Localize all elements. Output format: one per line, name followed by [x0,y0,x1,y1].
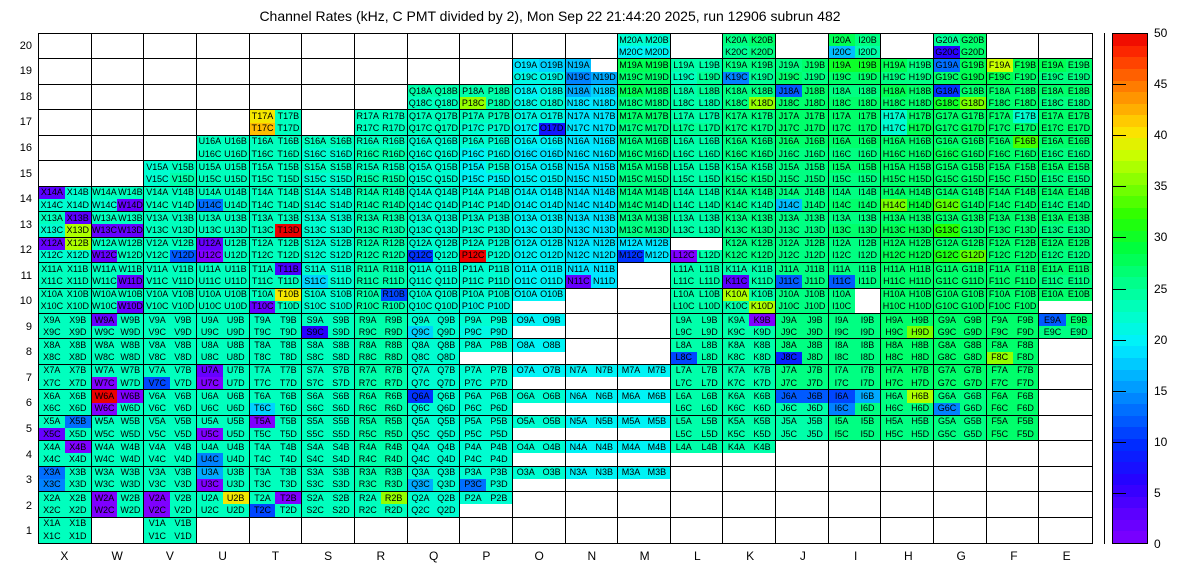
channel-subcell: T15A [250,161,276,173]
channel-subcell: W13D [117,224,143,236]
cell-quadrants: V15AV15BV15CV15D [144,161,196,185]
channel-subcell: N14D [591,199,617,211]
channel-subcell: K15B [749,161,775,173]
heatmap-cell [144,59,197,84]
channel-subcell [566,403,592,415]
cell-quadrants: G10AG10BG10CG10D [934,289,986,313]
channel-subcell: P10C [460,301,486,313]
channel-subcell: R4D [381,453,407,465]
heatmap-cell: G11AG11BG11CG11D [934,263,987,288]
channel-subcell: I16D [855,148,881,160]
channel-subcell: U10A [197,289,223,301]
channel-subcell: O11D [539,275,565,287]
channel-subcell: W2D [117,504,143,516]
channel-subcell: W12B [117,238,143,250]
channel-subcell: W9A [92,314,118,326]
channel-subcell: I19B [855,59,881,71]
channel-subcell: J9A [776,314,802,326]
channel-subcell: X1B [65,518,91,531]
channel-subcell: K9D [749,326,775,338]
channel-subcell: H9A [881,314,907,326]
heatmap-cell: P13AP13BP13CP13D [460,212,513,237]
cell-quadrants: V2AV2BV2CV2D [144,492,196,516]
channel-subcell: H10C [881,301,907,313]
channel-subcell: W10A [92,289,118,301]
channel-subcell: V10A [144,289,170,301]
channel-subcell: R8B [381,339,407,351]
channel-subcell: X2A [39,492,65,504]
heatmap-cell: O11AO11BO11CO11D [513,263,566,288]
channel-subcell: O16A [513,136,539,148]
channel-subcell: T7D [275,377,301,389]
cell-quadrants: K20AK20BK20CK20D [723,34,775,58]
channel-subcell: J7A [776,365,802,377]
colorbar-axis-line [1104,33,1105,544]
channel-subcell: O10A [513,289,539,301]
cell-quadrants: L5AL5BL5CL5D [671,416,723,440]
heatmap-cell: K16AK16BK16CK16D [723,136,776,161]
channel-subcell: K10B [749,289,775,301]
cell-quadrants: T6AT6BT6CT6D [250,390,302,414]
channel-subcell: X12A [39,238,65,250]
channel-subcell: L14D [697,199,723,211]
cell-quadrants: M7AM7B [618,365,670,389]
channel-subcell: F18A [987,85,1013,97]
channel-subcell: V4C [144,453,170,465]
heatmap-cell: L18AL18BL18CL18D [671,85,724,110]
cell-quadrants: P6AP6BP6CP6D [460,390,512,414]
channel-subcell: Q12A [408,238,434,250]
channel-subcell: T9B [275,314,301,326]
channel-subcell: K16B [749,136,775,148]
cell-quadrants: T15AT15BT15CT15D [250,161,302,185]
channel-subcell: X14B [65,187,91,199]
channel-subcell [513,453,539,465]
channel-subcell: Q3D [433,479,459,491]
cell-quadrants: Q10AQ10BQ10CQ10D [408,289,460,313]
heatmap-cell: O5AO5B [513,416,566,441]
channel-subcell [671,453,697,465]
channel-subcell [539,479,565,491]
channel-subcell: G7B [960,365,986,377]
channel-subcell: P9C [460,326,486,338]
cell-quadrants: P12AP12BP12CP12D [460,238,512,262]
channel-subcell: T10D [275,301,301,313]
heatmap-cell: H12AH12BH12CH12D [881,238,934,263]
channel-subcell: K14C [723,199,749,211]
cell-quadrants: S4AS4BS4CS4D [302,441,354,465]
heatmap-cell: R7AR7BR7CR7D [355,365,408,390]
channel-subcell: Q2D [433,504,459,516]
channel-subcell: T16A [250,136,276,148]
y-axis-tick: 2 [0,500,32,512]
cell-quadrants: X4AX4BX4CX4D [39,441,91,465]
channel-subcell: T2B [275,492,301,504]
channel-subcell: H8C [881,352,907,364]
channel-subcell: M7A [618,365,644,377]
cell-quadrants: T10AT10BT10CT10D [250,289,302,313]
channel-subcell: R16D [381,148,407,160]
colorbar-segment [1113,208,1147,220]
cell-quadrants: R9AR9BR9CR9D [355,314,407,338]
colorbar-segment [1113,323,1147,335]
heatmap-cell [302,518,355,543]
channel-subcell: L14A [671,187,697,199]
channel-subcell: S12B [328,238,354,250]
heatmap-cell: M18AM18BM18CM18D [618,85,671,110]
channel-subcell: I6D [855,403,881,415]
heatmap-cell: L8AL8BL8CL8D [671,339,724,364]
channel-subcell [644,377,670,389]
channel-subcell: U16D [223,148,249,160]
channel-subcell: V9D [170,326,196,338]
channel-subcell: Q8C [408,352,434,364]
heatmap-cell: U4AU4BU4CU4D [197,441,250,466]
heatmap-cell: M17AM17BM17CM17D [618,110,671,135]
y-axis-tick: 6 [0,397,32,409]
heatmap-cell: S4AS4BS4CS4D [302,441,355,466]
y-axis-tick: 15 [0,168,32,180]
heatmap-cell [1039,416,1092,441]
cell-quadrants: Q5AQ5BQ5CQ5D [408,416,460,440]
channel-subcell [486,504,512,516]
channel-subcell: M16C [618,148,644,160]
channel-subcell: F5B [1013,416,1039,428]
heatmap-cell: V13AV13BV13CV13D [144,212,197,237]
channel-subcell: U7B [223,365,249,377]
heatmap-cell [144,34,197,59]
channel-subcell: R13A [355,212,381,224]
channel-subcell: G7D [960,377,986,389]
channel-subcell: K8B [749,339,775,351]
channel-subcell: O18A [513,85,539,97]
heatmap-cell: R13AR13BR13CR13D [355,212,408,237]
cell-quadrants: M17AM17BM17CM17D [618,110,670,134]
heatmap-cell: N7AN7B [566,365,619,390]
channel-subcell: X6D [65,403,91,415]
heatmap-cell: V6AV6BV6CV6D [144,390,197,415]
cell-quadrants: H16AH16BH16CH16D [881,136,933,160]
channel-subcell: F7A [987,365,1013,377]
heatmap-cell: P18AP18BP18CP18D [460,85,513,110]
channel-subcell: S6A [302,390,328,402]
channel-subcell: M16B [644,136,670,148]
channel-subcell: H11C [881,275,907,287]
channel-subcell: T6A [250,390,276,402]
cell-quadrants: M16AM16BM16CM16D [618,136,670,160]
channel-subcell: M13A [618,212,644,224]
x-axis-tick: Q [407,549,460,569]
channel-subcell: N17C [566,123,592,135]
channel-subcell: P18C [460,97,486,109]
channel-subcell: P9A [460,314,486,326]
cell-quadrants: W14AW14BW14CW14D [92,187,144,211]
channel-subcell: V14A [144,187,170,199]
channel-subcell: P6B [486,390,512,402]
cell-quadrants: P17AP17BP17CP17D [460,110,512,134]
channel-subcell [1039,301,1065,313]
channel-subcell: O3B [539,467,565,479]
channel-subcell: I11A [829,263,855,275]
channel-subcell: I16C [829,148,855,160]
cell-quadrants: I16AI16BI16CI16D [829,136,881,160]
channel-subcell: P13C [460,224,486,236]
heatmap-cell: P15AP15BP15CP15D [460,161,513,186]
channel-subcell: K13B [749,212,775,224]
channel-subcell: I14B [855,187,881,199]
heatmap-cell [566,314,619,339]
channel-subcell: X10B [65,289,91,301]
channel-subcell: J10A [776,289,802,301]
cell-quadrants: H14AH14BH14CH14D [881,187,933,211]
heatmap-cell: L5AL5BL5CL5D [671,416,724,441]
channel-subcell: R12B [381,238,407,250]
heatmap-cell [460,518,513,543]
channel-subcell: W10D [117,301,143,313]
channel-subcell: U4C [197,453,223,465]
heatmap-cell: F13AF13BF13CF13D [987,212,1040,237]
cell-quadrants: M4AM4B [618,441,670,465]
channel-subcell: R17A [355,110,381,122]
channel-subcell: V5B [170,416,196,428]
heatmap-cell [250,34,303,59]
channel-subcell: P5D [486,428,512,440]
channel-subcell: W4A [92,441,118,453]
channel-subcell: M7B [644,365,670,377]
heatmap-cell: T2AT2BT2CT2D [250,492,303,517]
channel-subcell: H11B [907,263,933,275]
heatmap-cell: P17AP17BP17CP17D [460,110,513,135]
channel-subcell: R17D [381,123,407,135]
channel-subcell: V9A [144,314,170,326]
heatmap-cell: S12AS12BS12CS12D [302,238,355,263]
channel-subcell: M14D [644,199,670,211]
heatmap-cell: T13AT13BT13CT13D [250,212,303,237]
channel-subcell: T15C [250,173,276,185]
channel-subcell: M17D [644,123,670,135]
channel-subcell: S13B [328,212,354,224]
channel-subcell: T17C [250,123,276,135]
channel-subcell: L17A [671,110,697,122]
channel-subcell: V7B [170,365,196,377]
heatmap-cell: X13AX13BX13CX13D [39,212,92,237]
channel-subcell: O13D [539,224,565,236]
channel-subcell: H7D [907,377,933,389]
channel-subcell: S11A [302,263,328,275]
cell-quadrants: X5AX5BX5CX5D [39,416,91,440]
channel-subcell: L17C [671,123,697,135]
channel-subcell: T12B [275,238,301,250]
channel-subcell: I19D [855,72,881,84]
cell-quadrants: Q2AQ2BQ2CQ2D [408,492,460,516]
channel-subcell: L7C [671,377,697,389]
channel-subcell: F16C [987,148,1013,160]
channel-subcell: E13C [1039,224,1065,236]
channel-subcell: P3C [460,479,486,491]
heatmap-cell: N6AN6B [566,390,619,415]
channel-subcell: S14D [328,199,354,211]
cell-quadrants: P15AP15BP15CP15D [460,161,512,185]
y-axis-tick: 9 [0,321,32,333]
channel-subcell: H16D [907,148,933,160]
channel-subcell: R16B [381,136,407,148]
channel-subcell: W5A [92,416,118,428]
channel-subcell: U3B [223,467,249,479]
heatmap-cell [618,339,671,364]
channel-subcell: F15D [1013,173,1039,185]
channel-subcell: T8C [250,352,276,364]
channel-subcell: S9D [328,326,354,338]
channel-subcell: S10B [328,289,354,301]
cell-quadrants: I5AI5BI5CI5D [829,416,881,440]
heatmap-cell: Q13AQ13BQ13CQ13D [408,212,461,237]
heatmap-cell: X5AX5BX5CX5D [39,416,92,441]
x-axis-tick: H [882,549,935,569]
channel-subcell: G11A [934,263,960,275]
heatmap-cell: E19AE19BE19CE19D [1039,59,1092,84]
channel-subcell: R10C [355,301,381,313]
channel-subcell: Q11B [433,263,459,275]
colorbar-segment [1113,370,1147,382]
channel-subcell: H10D [907,301,933,313]
heatmap-cell [92,161,145,186]
cell-quadrants: T12AT12BT12CT12D [250,238,302,262]
channel-subcell: I17D [855,123,881,135]
channel-subcell: V13D [170,224,196,236]
cell-quadrants: U8AU8BU8CU8D [197,339,249,363]
heatmap-cell: T11AT11BT11CT11D [250,263,303,288]
heatmap-cell: I12AI12BI12CI12D [829,238,882,263]
channel-subcell: X9B [65,314,91,326]
heatmap-cell: T10AT10BT10CT10D [250,289,303,314]
channel-subcell: F18C [987,97,1013,109]
channel-subcell: N18D [591,97,617,109]
channel-subcell: O9A [513,314,539,326]
channel-subcell: U5A [197,416,223,428]
channel-subcell: W11D [117,275,143,287]
channel-subcell: J18C [776,97,802,109]
cell-quadrants: F17AF17BF17CF17D [987,110,1039,134]
heatmap-grid: M20AM20BM20CM20DK20AK20BK20CK20DI20AI20B… [39,34,1092,543]
channel-subcell: F16B [1013,136,1039,148]
channel-subcell [539,301,565,313]
heatmap-cell: J7AJ7BJ7CJ7D [776,365,829,390]
heatmap-cell: S16AS16BS16CS16D [302,136,355,161]
channel-subcell: U6A [197,390,223,402]
channel-subcell: R13C [355,224,381,236]
channel-subcell: X1D [65,530,91,543]
channel-subcell: Q7B [433,365,459,377]
channel-subcell: H15C [881,173,907,185]
channel-subcell: F14A [987,187,1013,199]
heatmap-cell: I8AI8BI8CI8D [829,339,882,364]
colorbar-tick-label: 45 [1154,77,1167,91]
channel-subcell: J11A [776,263,802,275]
channel-subcell: F6B [1013,390,1039,402]
channel-subcell: G15A [934,161,960,173]
channel-subcell: G6A [934,390,960,402]
heatmap-cell: E14AE14BE14CE14D [1039,187,1092,212]
cell-quadrants: U9AU9BU9CU9D [197,314,249,338]
channel-subcell: J13A [776,212,802,224]
heatmap-cell [987,34,1040,59]
channel-subcell: V15A [144,161,170,173]
channel-subcell: R4B [381,441,407,453]
channel-subcell: P11A [460,263,486,275]
heatmap-cell: N14AN14BN14CN14D [566,187,619,212]
channel-subcell: F9B [1013,314,1039,326]
channel-subcell: F17A [987,110,1013,122]
channel-subcell: S4A [302,441,328,453]
colorbar-tick-mark [1112,493,1126,494]
channel-subcell: V13A [144,212,170,224]
heatmap-cell: F11AF11BF11CF11D [987,263,1040,288]
cell-quadrants: O19AO19BO19CO19D [513,59,565,83]
channel-subcell: V11A [144,263,170,275]
cell-quadrants: W9AW9BW9CW9D [92,314,144,338]
channel-subcell: K20C [723,46,749,58]
heatmap-cell: T12AT12BT12CT12D [250,238,303,263]
channel-subcell: S3A [302,467,328,479]
cell-quadrants: X11AX11BX11CX11D [39,263,91,287]
channel-subcell: I7B [855,365,881,377]
cell-quadrants: U11AU11BU11CU11D [197,263,249,287]
channel-subcell: H17B [907,110,933,122]
cell-quadrants: T16AT16BT16CT16D [250,136,302,160]
channel-subcell: V13B [170,212,196,224]
channel-subcell: E18C [1039,97,1065,109]
channel-subcell: I12A [829,238,855,250]
channel-subcell: J5D [802,428,828,440]
heatmap-cell: L13AL13BL13CL13D [671,212,724,237]
channel-subcell: I7D [855,377,881,389]
colorbar-tick-mark [1112,237,1126,238]
channel-subcell: T2C [250,504,276,516]
channel-subcell: J19C [776,72,802,84]
colorbar-tick-mark [1112,289,1126,290]
channel-subcell: I19A [829,59,855,71]
channel-subcell: Q6D [433,403,459,415]
channel-subcell: V10D [170,301,196,313]
channel-subcell: S16C [302,148,328,160]
cell-quadrants: H17AH17BH17CH17D [881,110,933,134]
y-axis-tick: 1 [0,525,32,537]
channel-subcell: V15B [170,161,196,173]
channel-subcell [855,301,881,313]
channel-subcell: J8A [776,339,802,351]
cell-quadrants: H13AH13BH13CH13D [881,212,933,236]
heatmap-cell: V4AV4BV4CV4D [144,441,197,466]
channel-subcell: Q15B [433,161,459,173]
channel-subcell: K6B [749,390,775,402]
channel-subcell: N6B [591,390,617,402]
heatmap-cell: Q3AQ3BQ3CQ3D [408,467,461,492]
channel-subcell: F14D [1013,199,1039,211]
y-axis-tick: 12 [0,244,32,256]
channel-subcell [566,428,592,440]
channel-subcell: H15B [907,161,933,173]
heatmap-cell: P2AP2B [460,492,513,517]
channel-subcell: G19A [934,59,960,71]
cell-quadrants: K8AK8BK8CK8D [723,339,775,363]
cell-quadrants: S14AS14BS14CS14D [302,187,354,211]
cell-quadrants: O9AO9B [513,314,565,338]
cell-quadrants: G6AG6BG6CG6D [934,390,986,414]
heatmap-cell [197,85,250,110]
channel-subcell: U13B [223,212,249,224]
heatmap-cell: L11AL11BL11CL11D [671,263,724,288]
channel-subcell: V5D [170,428,196,440]
